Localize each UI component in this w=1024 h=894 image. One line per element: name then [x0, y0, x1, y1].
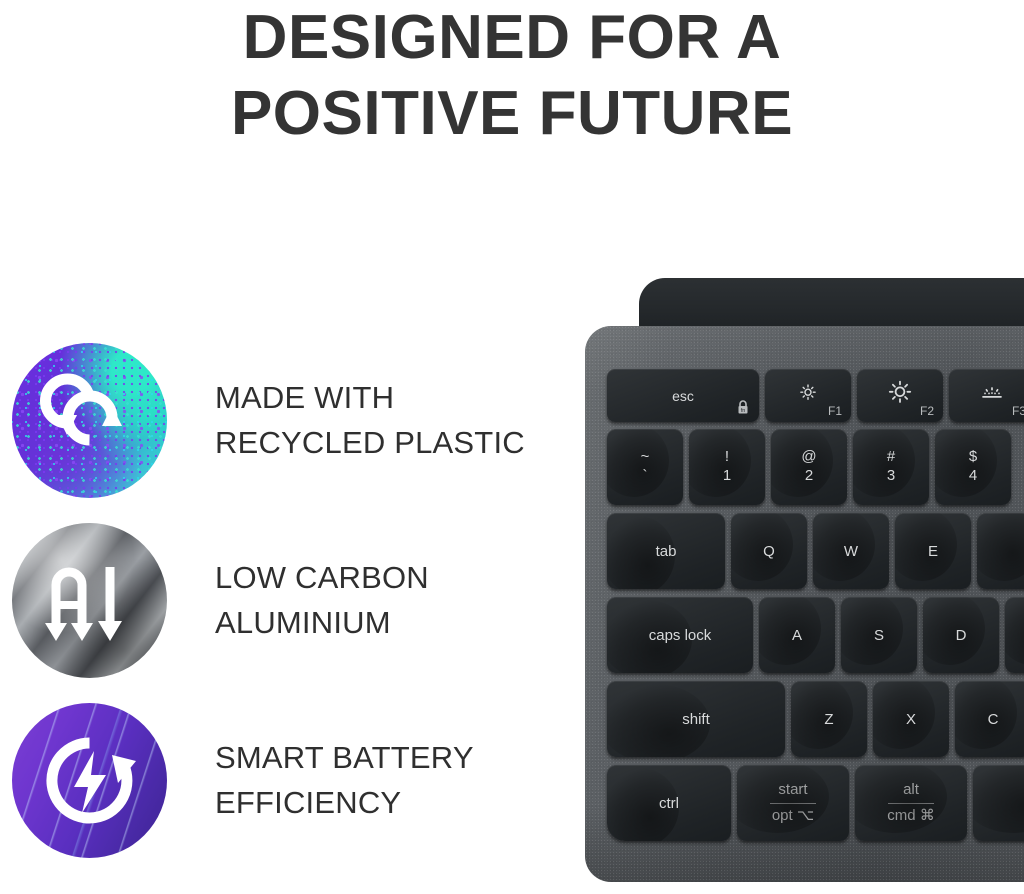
aluminium-down-arrow-icon [12, 523, 167, 678]
key-c[interactable]: C [955, 681, 1024, 757]
key-esc[interactable]: esc fn [607, 369, 759, 422]
page-title: DESIGNED FOR A POSITIVE FUTURE [0, 0, 1024, 152]
feature-label-recycled-plastic: MADE WITH RECYCLED PLASTIC [215, 375, 525, 465]
al-arrows-glyph [12, 523, 167, 678]
keyboard-backlight-icon [979, 383, 1005, 404]
brightness-up-icon [888, 379, 912, 406]
key-d[interactable]: D [923, 597, 999, 673]
key-cmd-label: cmd ⌘ [887, 808, 935, 825]
key-f3-label: F3 [1012, 404, 1024, 418]
key-f1[interactable]: F1 [765, 369, 851, 422]
key-spacebar-partial[interactable] [973, 765, 1024, 841]
headline-line-2: POSITIVE FUTURE [0, 76, 1024, 152]
key-2[interactable]: @ 2 [771, 429, 847, 505]
fn-lock-icon: fn [736, 399, 750, 418]
headline-line-1: DESIGNED FOR A [243, 3, 782, 72]
key-ctrl[interactable]: ctrl [607, 765, 731, 841]
key-start-label: start [778, 782, 807, 799]
key-s[interactable]: S [841, 597, 917, 673]
key-shift-left[interactable]: shift [607, 681, 785, 757]
key-f[interactable] [1005, 597, 1024, 673]
svg-text:fn: fn [741, 408, 746, 414]
key-3[interactable]: # 3 [853, 429, 929, 505]
key-1[interactable]: ! 1 [689, 429, 765, 505]
key-x[interactable]: X [873, 681, 949, 757]
battery-bolt-refresh-icon [12, 703, 167, 858]
key-z[interactable]: Z [791, 681, 867, 757]
recycle-loop-glyph [12, 343, 167, 498]
key-start-opt[interactable]: start opt ⌥ [737, 765, 849, 841]
key-caps-lock[interactable]: caps lock [607, 597, 753, 673]
key-f2[interactable]: F2 [857, 369, 943, 422]
legend-divider [770, 803, 816, 804]
key-alt-label: alt [903, 782, 919, 799]
feature-label-low-carbon-aluminium: LOW CARBON ALUMINIUM [215, 555, 429, 645]
key-tab[interactable]: tab [607, 513, 725, 589]
feature-list: MADE WITH RECYCLED PLASTIC LOW CARBON AL… [12, 330, 572, 870]
key-e[interactable]: E [895, 513, 971, 589]
feature-label-smart-battery: SMART BATTERY EFFICIENCY [215, 735, 474, 825]
key-r[interactable] [977, 513, 1024, 589]
key-alt-cmd[interactable]: alt cmd ⌘ [855, 765, 967, 841]
brightness-down-icon [798, 382, 818, 405]
key-f1-label: F1 [828, 404, 842, 418]
key-opt-label: opt ⌥ [772, 808, 814, 825]
key-f3[interactable]: F3 [949, 369, 1024, 422]
feature-item-recycled-plastic: MADE WITH RECYCLED PLASTIC [12, 330, 572, 510]
key-w[interactable]: W [813, 513, 889, 589]
feature-item-smart-battery: SMART BATTERY EFFICIENCY [12, 690, 572, 870]
bolt-refresh-glyph [12, 703, 167, 858]
keyboard-product-image: esc fn [585, 278, 1024, 894]
feature-item-low-carbon-aluminium: LOW CARBON ALUMINIUM [12, 510, 572, 690]
key-4[interactable]: $ 4 [935, 429, 1011, 505]
key-a[interactable]: A [759, 597, 835, 673]
key-q[interactable]: Q [731, 513, 807, 589]
key-backtick[interactable]: ~ ` [607, 429, 683, 505]
legend-divider [888, 803, 934, 804]
recycle-loop-icon [12, 343, 167, 498]
key-f2-label: F2 [920, 404, 934, 418]
